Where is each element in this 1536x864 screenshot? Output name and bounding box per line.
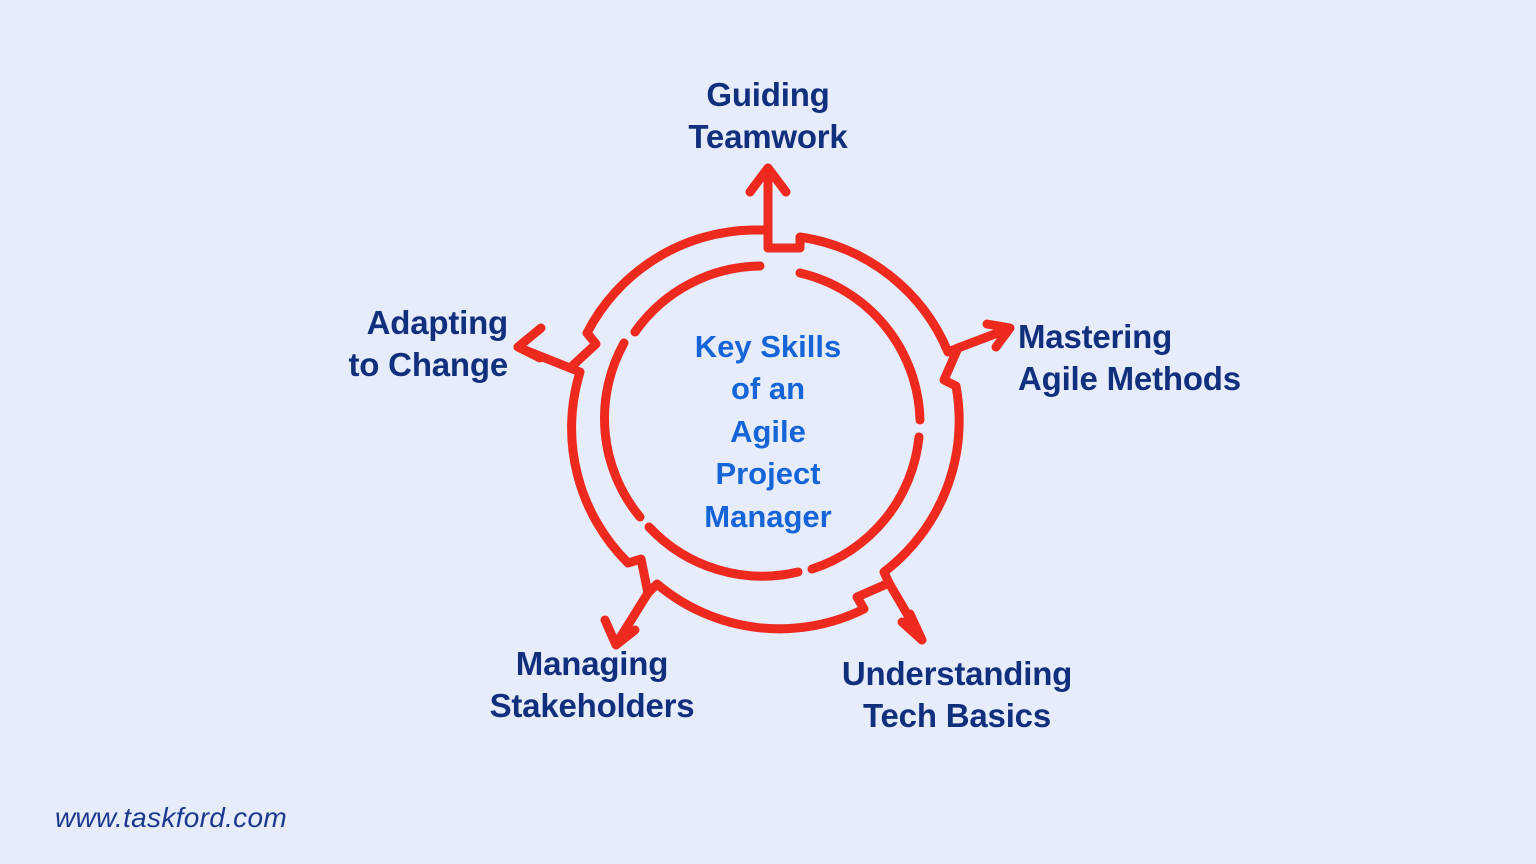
- spoke-label-mastering-agile-methods: Mastering Agile Methods: [1018, 316, 1358, 400]
- spoke-label-guiding-teamwork: Guiding Teamwork: [608, 74, 928, 158]
- watermark-url: www.taskford.com: [55, 802, 287, 834]
- diagram-canvas: Guiding Teamwork Adapting to Change Mast…: [0, 0, 1536, 864]
- spoke-label-adapting-to-change: Adapting to Change: [188, 302, 508, 386]
- spoke-label-managing-stakeholders: Managing Stakeholders: [432, 643, 752, 727]
- arrow-understanding-tech-basics: [889, 583, 922, 640]
- spoke-label-understanding-tech-basics: Understanding Tech Basics: [792, 653, 1122, 737]
- arrow-managing-stakeholders: [605, 593, 648, 645]
- arrow-guiding-teamwork: [750, 168, 786, 248]
- hub-label: Key Skills of an Agile Project Manager: [636, 326, 900, 538]
- outer-ring-segment-bottom: [648, 583, 889, 629]
- arrow-mastering-agile-methods: [958, 324, 1010, 348]
- arrow-adapting-to-change: [518, 328, 570, 368]
